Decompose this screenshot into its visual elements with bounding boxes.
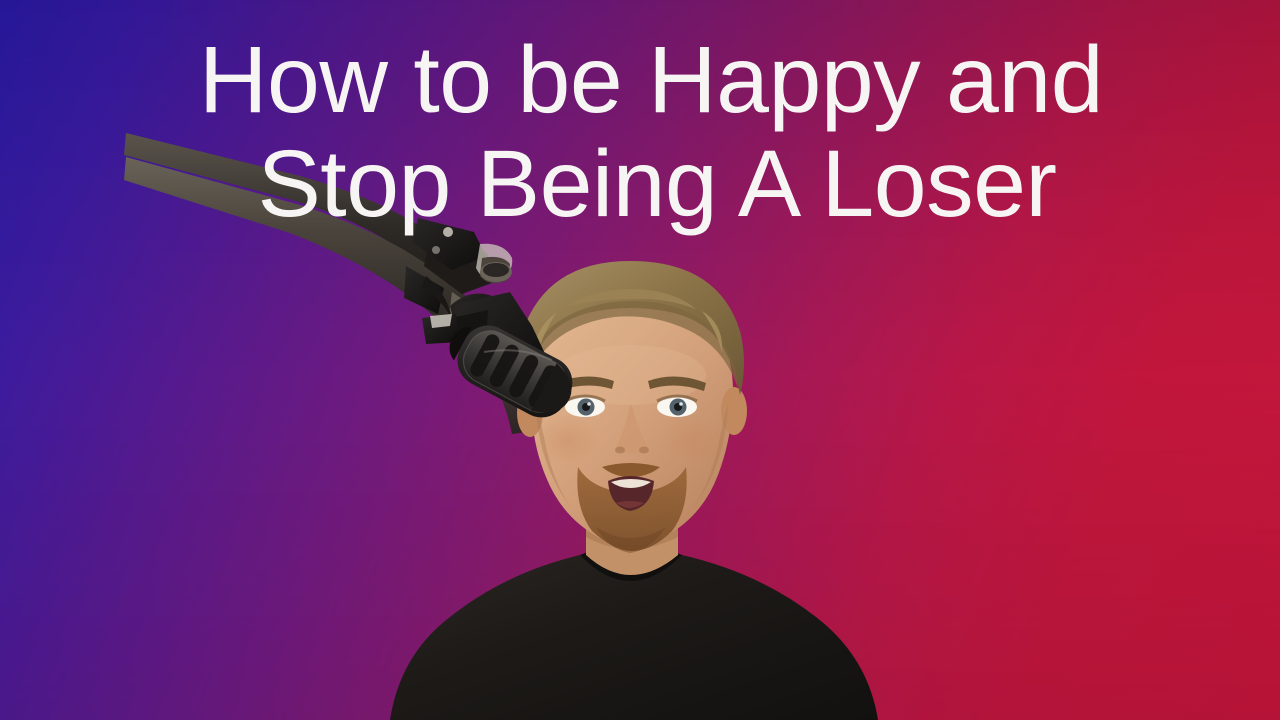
microphone-icon (400, 210, 630, 470)
video-thumbnail: How to be Happy and Stop Being A Loser (0, 0, 1280, 720)
microphone-assembly (400, 210, 630, 470)
